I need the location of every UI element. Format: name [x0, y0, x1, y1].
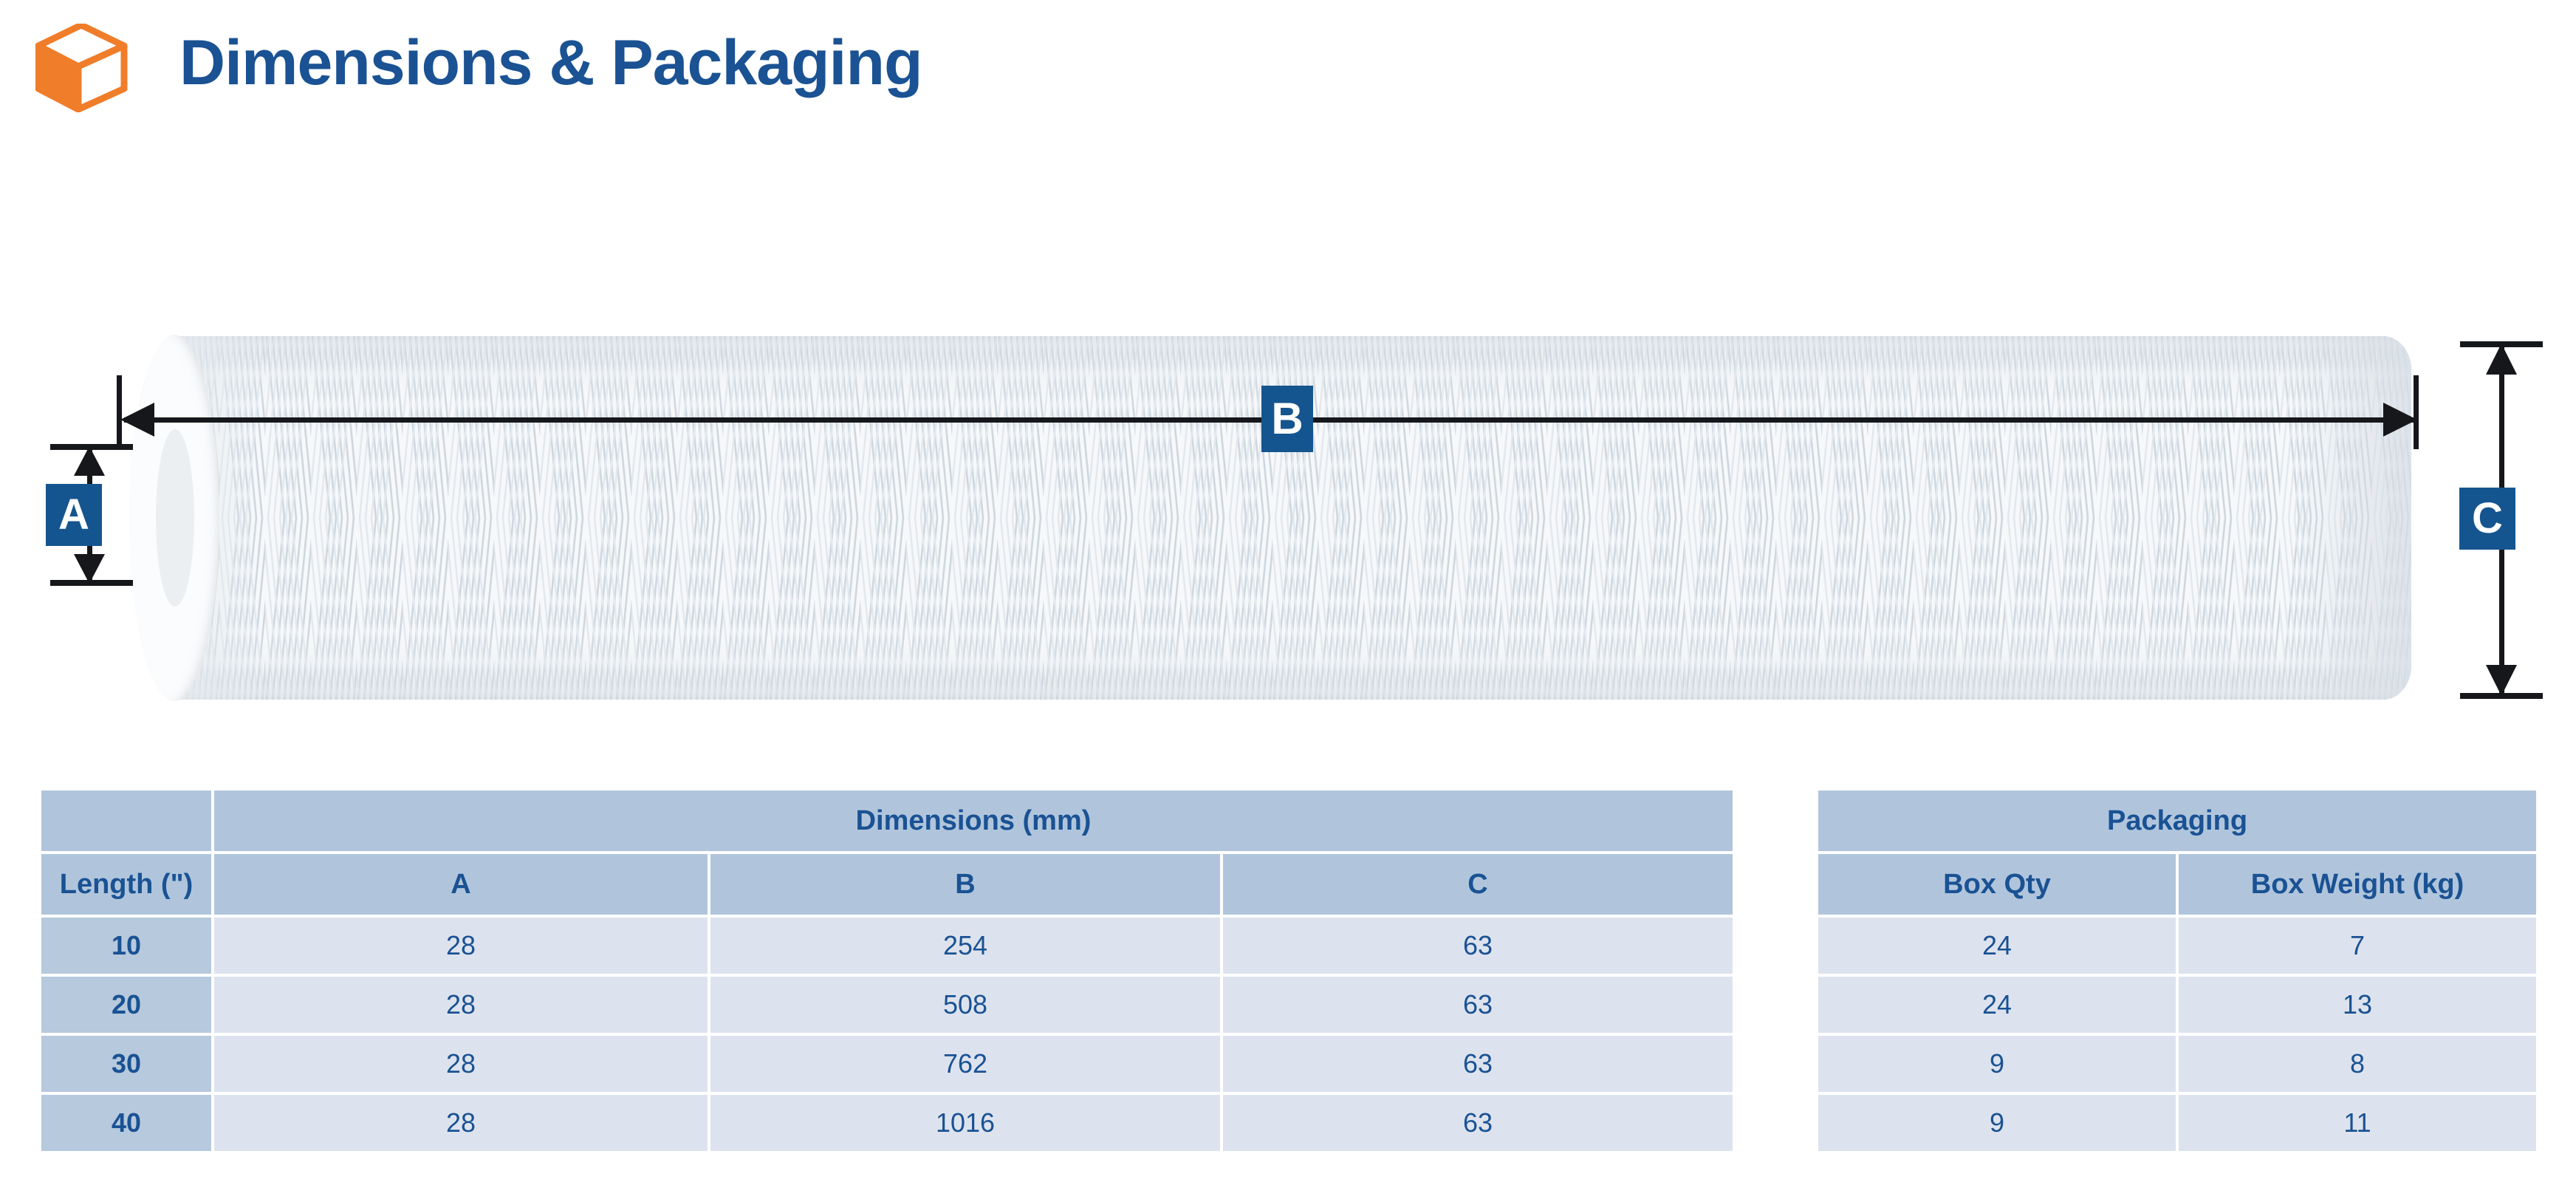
dimensions-cell-a: 28	[214, 977, 708, 1033]
dimensions-cell-c: 63	[1223, 977, 1733, 1033]
table-row: 10 28 254 63	[41, 918, 1733, 974]
dimensions-column-header-c: C	[1223, 854, 1733, 915]
dimension-c-arrow-top	[2486, 344, 2517, 375]
cartridge-center-bore	[156, 429, 194, 607]
dimension-badge-c: C	[2459, 488, 2515, 550]
box-cube-icon	[35, 24, 128, 112]
table-row-group-header: Packaging	[1818, 790, 2536, 851]
packaging-cell-box-qty: 9	[1818, 1036, 2176, 1092]
table-row: 9 8	[1818, 1036, 2536, 1092]
dimensions-cell-b: 508	[710, 977, 1220, 1033]
page-title: Dimensions & Packaging	[179, 31, 922, 95]
dimensions-cell-length: 30	[41, 1036, 211, 1092]
dimension-b-arrow-left	[120, 403, 154, 437]
product-dimension-diagram: B A C	[0, 148, 2576, 783]
packaging-cell-box-qty: 24	[1818, 918, 2176, 974]
packaging-cell-box-qty: 24	[1818, 977, 2176, 1033]
dimensions-cell-a: 28	[214, 1036, 708, 1092]
dimension-badge-a: A	[46, 484, 102, 546]
dimensions-row-header-label: Length (")	[41, 854, 211, 915]
dimension-b-arrow-right	[2383, 403, 2417, 437]
dimensions-cell-length: 40	[41, 1095, 211, 1151]
table-row: 30 28 762 63	[41, 1036, 1733, 1092]
dimensions-cell-c: 63	[1223, 1036, 1733, 1092]
dimensions-packaging-page: Dimensions & Packaging	[0, 0, 2576, 1185]
dimensions-cell-b: 1016	[710, 1095, 1220, 1151]
dimension-badge-b: B	[1261, 386, 1313, 452]
table-row: 24 7	[1818, 918, 2536, 974]
dimensions-corner-cell	[41, 790, 211, 851]
dimension-c-arrow-bottom	[2486, 665, 2517, 696]
dimensions-column-header-a: A	[214, 854, 708, 915]
table-row-column-headers: Box Qty Box Weight (kg)	[1818, 854, 2536, 915]
packaging-group-header: Packaging	[1818, 790, 2536, 851]
dimensions-table: Dimensions (mm) Length (") A B C 10 28 2…	[38, 788, 1736, 1154]
packaging-column-header-box-qty: Box Qty	[1818, 854, 2176, 915]
dimensions-cell-a: 28	[214, 918, 708, 974]
dimension-a-arrow-top	[74, 446, 105, 476]
packaging-column-header-box-weight: Box Weight (kg)	[2179, 854, 2536, 915]
packaging-cell-box-qty: 9	[1818, 1095, 2176, 1151]
page-header: Dimensions & Packaging	[0, 0, 2576, 148]
dimensions-cell-length: 10	[41, 918, 211, 974]
dimensions-cell-length: 20	[41, 977, 211, 1033]
packaging-table: Packaging Box Qty Box Weight (kg) 24 7 2…	[1815, 788, 2539, 1154]
cartridge-right-shading	[2293, 336, 2411, 700]
dimensions-cell-b: 254	[710, 918, 1220, 974]
packaging-cell-box-weight: 11	[2179, 1095, 2536, 1151]
table-row: 24 13	[1818, 977, 2536, 1033]
table-row-column-headers: Length (") A B C	[41, 854, 1733, 915]
cartridge-end-cap	[129, 335, 219, 701]
table-row-group-header: Dimensions (mm)	[41, 790, 1733, 851]
packaging-cell-box-weight: 13	[2179, 977, 2536, 1033]
packaging-cell-box-weight: 7	[2179, 918, 2536, 974]
dimensions-cell-c: 63	[1223, 1095, 1733, 1151]
packaging-cell-box-weight: 8	[2179, 1036, 2536, 1092]
dimension-a-arrow-bottom	[74, 554, 105, 584]
dimensions-cell-a: 28	[214, 1095, 708, 1151]
table-row: 9 11	[1818, 1095, 2536, 1151]
dimensions-cell-b: 762	[710, 1036, 1220, 1092]
dimensions-column-header-b: B	[710, 854, 1220, 915]
table-row: 20 28 508 63	[41, 977, 1733, 1033]
table-row: 40 28 1016 63	[41, 1095, 1733, 1151]
dimensions-cell-c: 63	[1223, 918, 1733, 974]
dimensions-group-header: Dimensions (mm)	[214, 790, 1733, 851]
